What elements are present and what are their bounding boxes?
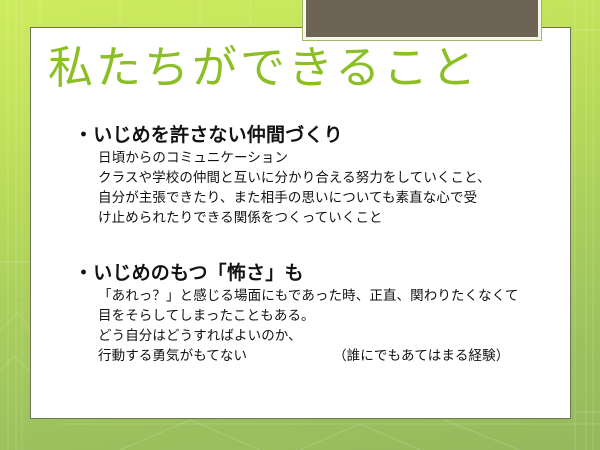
- section-2-note: （誰にでもあてはまる経験）: [333, 347, 509, 367]
- section-1-line-2: クラスや学校の仲間と互いに分かり合える努力をしていくこと、: [98, 169, 571, 189]
- section-2-body: 「あれっ？」と感じる場面にもであった時、正直、関わりたくなくて 目をそらしてしま…: [98, 287, 571, 366]
- slide-body: ・いじめを許さない仲間づくり 日頃からのコミュニケーション クラスや学校の仲間と…: [30, 27, 571, 419]
- section-1-line-4: け止められたりできる関係をつくっていくこと: [98, 209, 571, 229]
- section-2-line-3: どう自分はどうすればよいのか、: [98, 327, 571, 347]
- section-1-line-1: 日頃からのコミュニケーション: [98, 149, 571, 169]
- section-1-body: 日頃からのコミュニケーション クラスや学校の仲間と互いに分かり合える努力をしてい…: [98, 149, 571, 228]
- slide-canvas: 私たちができること ・いじめを許さない仲間づくり 日頃からのコミュニケーション …: [0, 0, 600, 450]
- section-2-line-4-text: 行動する勇気がもてない: [98, 348, 247, 364]
- section-2-line-2: 目をそらしてしまったこともある。: [98, 307, 571, 327]
- section-spacer: [74, 239, 571, 261]
- section-1: ・いじめを許さない仲間づくり 日頃からのコミュニケーション クラスや学校の仲間と…: [74, 123, 571, 229]
- section-2-line-4: 行動する勇気がもてない（誰にでもあてはまる経験）: [98, 347, 571, 367]
- section-2-heading: ・いじめのもつ「怖さ」も: [74, 261, 571, 285]
- section-1-heading: ・いじめを許さない仲間づくり: [74, 123, 571, 147]
- section-2: ・いじめのもつ「怖さ」も 「あれっ？」と感じる場面にもであった時、正直、関わりた…: [74, 261, 571, 367]
- section-1-line-3: 自分が主張できたり、また相手の思いについても素直な心で受: [98, 189, 571, 209]
- section-2-line-1: 「あれっ？」と感じる場面にもであった時、正直、関わりたくなくて: [98, 287, 571, 307]
